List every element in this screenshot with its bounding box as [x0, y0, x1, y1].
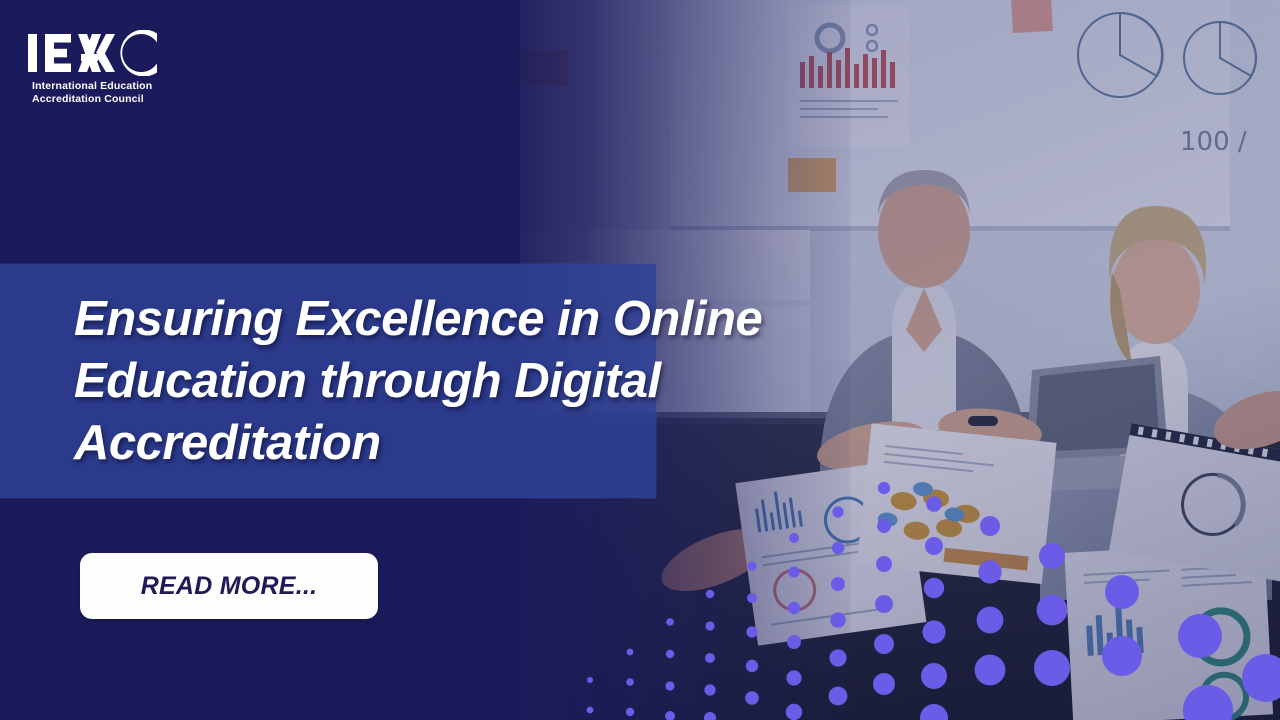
page-title: Ensuring Excellence in Online Education …: [74, 288, 954, 474]
logo-subtitle: International Education Accreditation Co…: [26, 80, 162, 106]
hero-banner: 100 /: [0, 0, 1280, 720]
read-more-button[interactable]: READ MORE...: [80, 553, 378, 619]
ieac-logo[interactable]: International Education Accreditation Co…: [26, 30, 162, 106]
ieac-wordmark-icon: [26, 30, 162, 76]
